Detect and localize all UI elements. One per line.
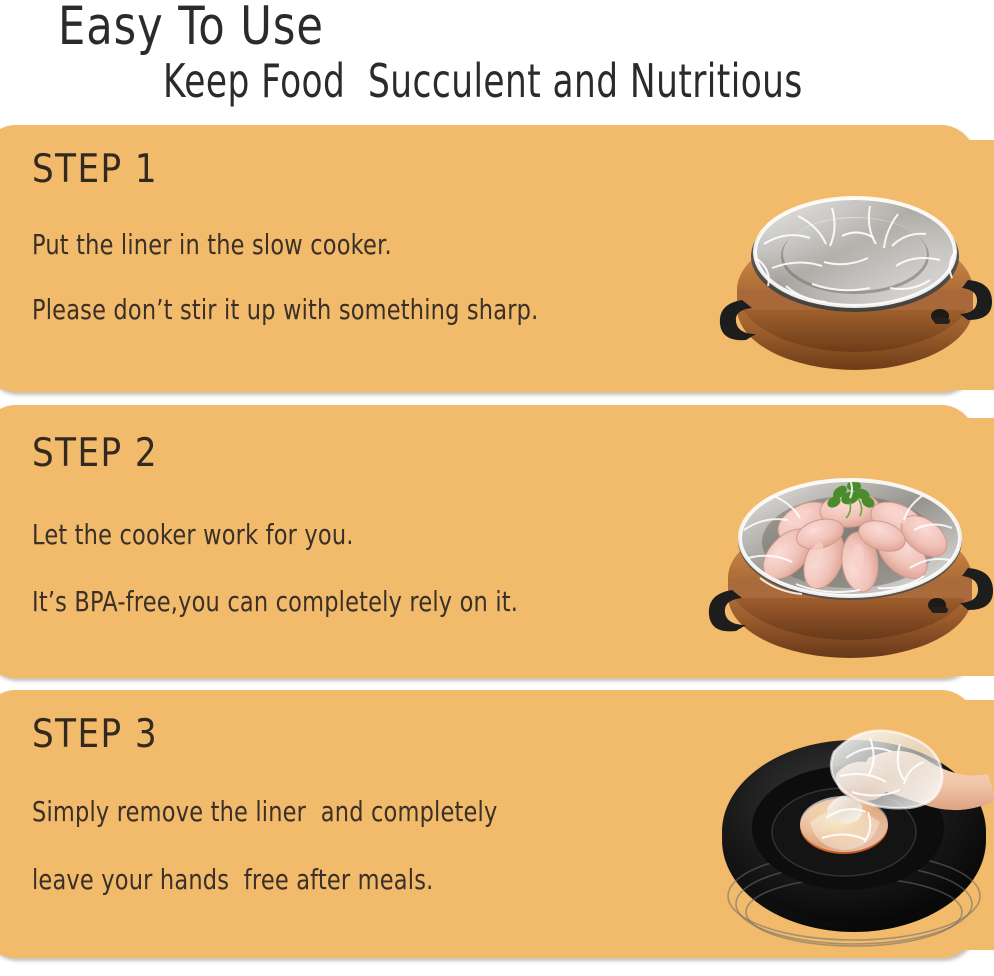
hand-removing-liner-photo: [718, 700, 994, 950]
cooker-with-chicken-photo: [700, 418, 994, 676]
step-2-line-2: It’s BPA-free,you can completely rely on…: [32, 585, 518, 617]
page-title-line-1: Easy To Use: [58, 0, 324, 58]
step-3-line-1: Simply remove the liner and completely: [32, 795, 497, 827]
step-1-line-2: Please don’t stir it up with something s…: [32, 293, 538, 325]
step-2-line-1: Let the cooker work for you.: [32, 518, 354, 550]
step-2-title: STEP 2: [32, 431, 158, 476]
step-3-title: STEP 3: [32, 712, 158, 757]
page-title-line-2: Keep Food Succulent and Nutritious: [163, 55, 803, 108]
step-1-line-1: Put the liner in the slow cooker.: [32, 228, 392, 260]
step-3-line-2: leave your hands free after meals.: [32, 863, 433, 895]
step-1-title: STEP 1: [32, 147, 158, 192]
slow-cooker-with-liner-photo: [712, 140, 994, 390]
header: Easy To Use Keep Food Succulent and Nutr…: [0, 0, 994, 122]
